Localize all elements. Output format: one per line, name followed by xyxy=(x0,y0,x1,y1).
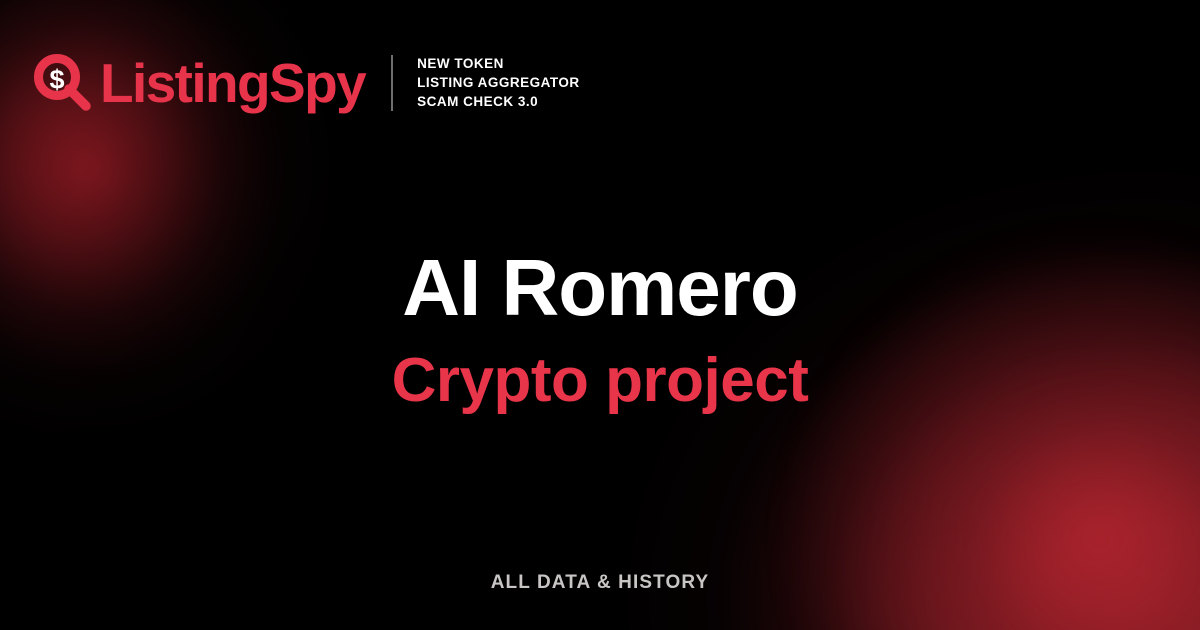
page-subtitle: Crypto project xyxy=(0,350,1200,412)
tagline-line-1: NEW TOKEN xyxy=(417,56,580,72)
tagline-line-3: SCAM CHECK 3.0 xyxy=(417,94,580,110)
tagline-line-2: LISTING AGGREGATOR xyxy=(417,75,580,91)
hero-block: AI Romero Crypto project xyxy=(0,248,1200,412)
og-card: $ ListingSpy NEW TOKEN LISTING AGGREGATO… xyxy=(0,0,1200,630)
footer-caption: ALL DATA & HISTORY xyxy=(0,572,1200,594)
magnifier-dollar-icon: $ xyxy=(32,52,94,114)
logo-wordmark: ListingSpy xyxy=(100,56,365,111)
svg-text:$: $ xyxy=(49,65,64,95)
footer-block: ALL DATA & HISTORY xyxy=(0,572,1200,594)
brand-header: $ ListingSpy NEW TOKEN LISTING AGGREGATO… xyxy=(32,52,580,114)
brand-tagline: NEW TOKEN LISTING AGGREGATOR SCAM CHECK … xyxy=(417,56,580,110)
header-divider xyxy=(391,55,393,111)
page-title: AI Romero xyxy=(0,248,1200,328)
